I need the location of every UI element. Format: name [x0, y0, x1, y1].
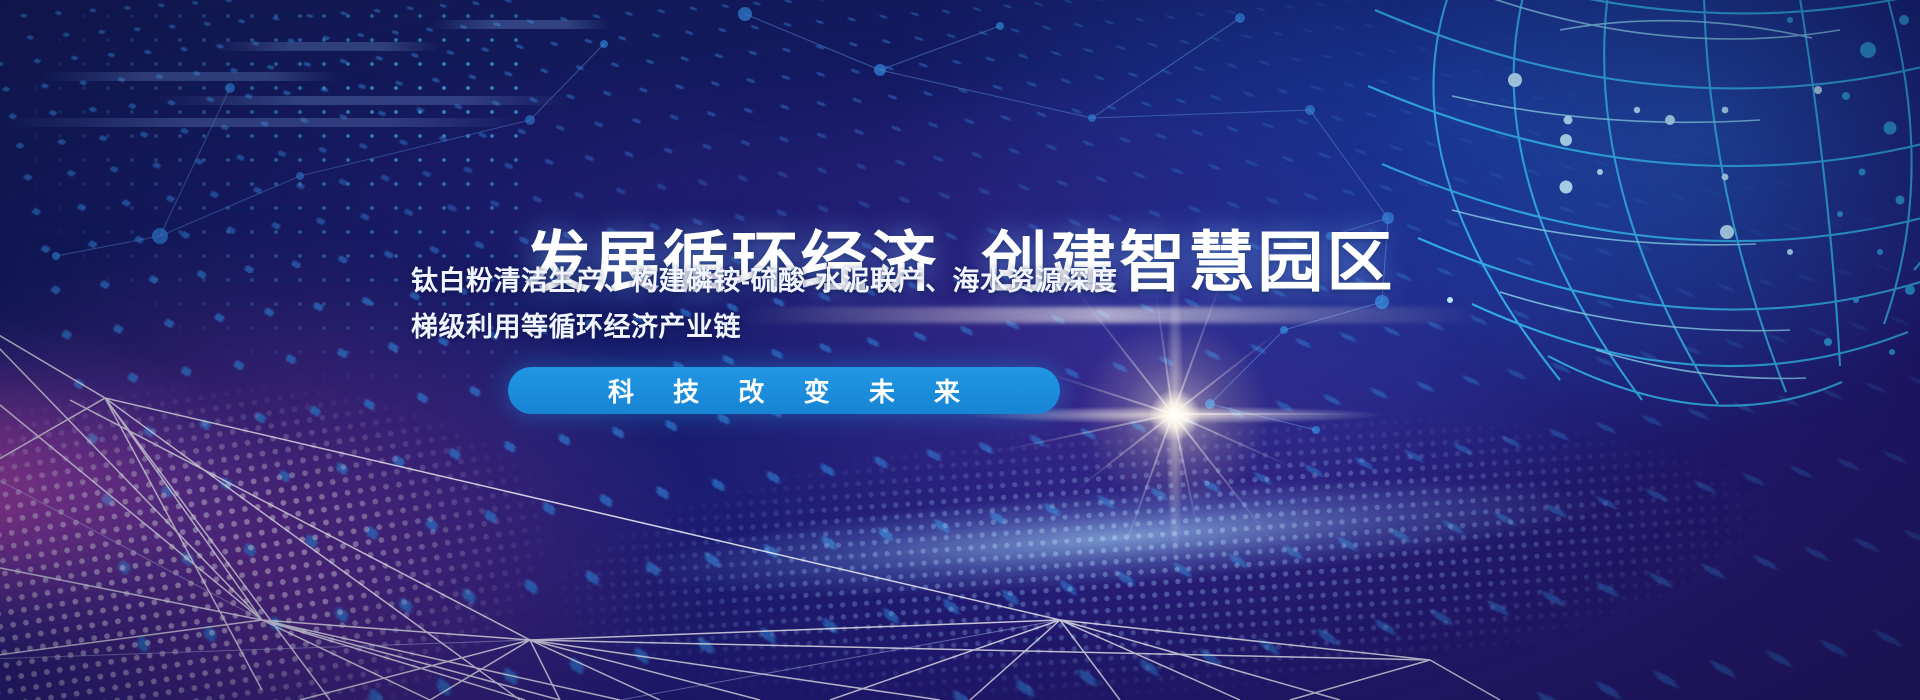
cta-button[interactable]: 科 技 改 变 未 来 [508, 367, 1060, 414]
banner-content: 发展循环经济 创建智慧园区 钛白粉清洁生产、构建磷铵-硫酸-水泥联产、海水资源深… [0, 0, 1920, 700]
banner-subtitle: 钛白粉清洁生产、构建磷铵-硫酸-水泥联产、海水资源深度 梯级利用等循环经济产业链 [411, 258, 1171, 350]
subtitle-line-1: 钛白粉清洁生产、构建磷铵-硫酸-水泥联产、海水资源深度 [411, 258, 1171, 304]
subtitle-line-2: 梯级利用等循环经济产业链 [411, 304, 1171, 350]
promo-banner: 发展循环经济 创建智慧园区 钛白粉清洁生产、构建磷铵-硫酸-水泥联产、海水资源深… [0, 0, 1920, 700]
